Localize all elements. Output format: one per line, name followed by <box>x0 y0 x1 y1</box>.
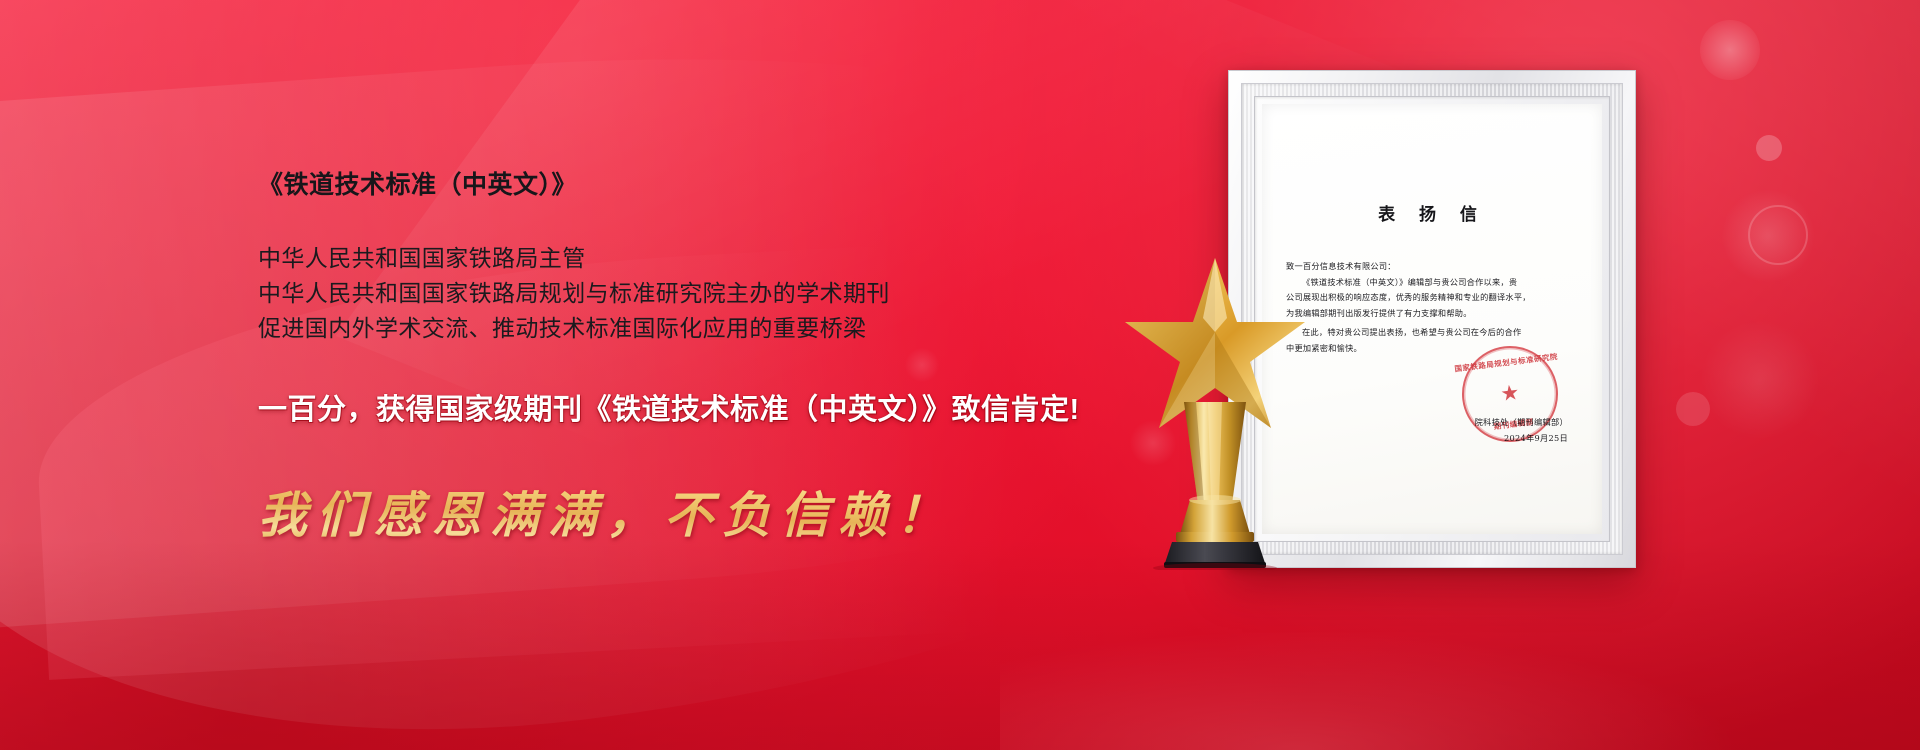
certificate-paper: 表 扬 信 致一百分信息技术有限公司： 《铁道技术标准（中英文）》编辑部与贵公司… <box>1262 104 1602 534</box>
banner-copy: 《铁道技术标准（中英文）》 中华人民共和国国家铁路局主管 中华人民共和国国家铁路… <box>258 170 1158 547</box>
floor-glow <box>1000 630 1740 750</box>
seal-star-icon: ★ <box>1498 382 1523 407</box>
bokeh-circle-1 <box>1700 20 1760 80</box>
certificate-title: 表 扬 信 <box>1262 200 1602 225</box>
description-line-3: 促进国内外学术交流、推动技术标准国际化应用的重要桥梁 <box>258 311 1158 346</box>
gold-star-trophy-icon <box>1120 252 1310 570</box>
certificate-paragraph2-line1: 在此，特对贵公司提出表扬，也希望与贵公司在今后的合作 <box>1286 325 1580 341</box>
certificate-body: 致一百分信息技术有限公司： 《铁道技术标准（中英文）》编辑部与贵公司合作以来，贵… <box>1286 259 1580 356</box>
description-line-2: 中华人民共和国国家铁路局规划与标准研究院主办的学术期刊 <box>258 276 1158 311</box>
journal-description: 中华人民共和国国家铁路局主管 中华人民共和国国家铁路局规划与标准研究院主办的学术… <box>258 241 1158 346</box>
description-line-1: 中华人民共和国国家铁路局主管 <box>258 241 1158 276</box>
bokeh-circle-6 <box>1676 392 1710 426</box>
certificate-paragraph1-line1: 《铁道技术标准（中英文）》编辑部与贵公司合作以来，贵 <box>1286 275 1580 291</box>
bokeh-circle-3 <box>1722 190 1814 282</box>
gratitude-calligraphy: 我们感恩满满，不负信赖！ <box>258 476 1158 547</box>
background-vignette <box>0 540 1920 750</box>
journal-title: 《铁道技术标准（中英文）》 <box>258 170 1158 200</box>
bokeh-circle-2 <box>1756 135 1782 161</box>
promo-banner: 《铁道技术标准（中英文）》 中华人民共和国国家铁路局主管 中华人民共和国国家铁路… <box>0 0 1920 750</box>
bokeh-ring-1 <box>1748 205 1808 265</box>
bokeh-circle-4 <box>1700 320 1820 440</box>
certificate-paragraph1-line3: 为我编辑部期刊出版发行提供了有力支撑和帮助。 <box>1286 306 1580 322</box>
certificate-paragraph1-line2: 公司展现出积极的响应态度，优秀的服务精神和专业的翻译水平， <box>1286 290 1580 306</box>
seal-bottom-text: 期刊编辑部 <box>1493 416 1534 432</box>
certificate-salutation: 致一百分信息技术有限公司： <box>1286 259 1580 275</box>
award-headline: 一百分，获得国家级期刊《铁道技术标准（中英文）》致信肯定! <box>258 386 1158 428</box>
